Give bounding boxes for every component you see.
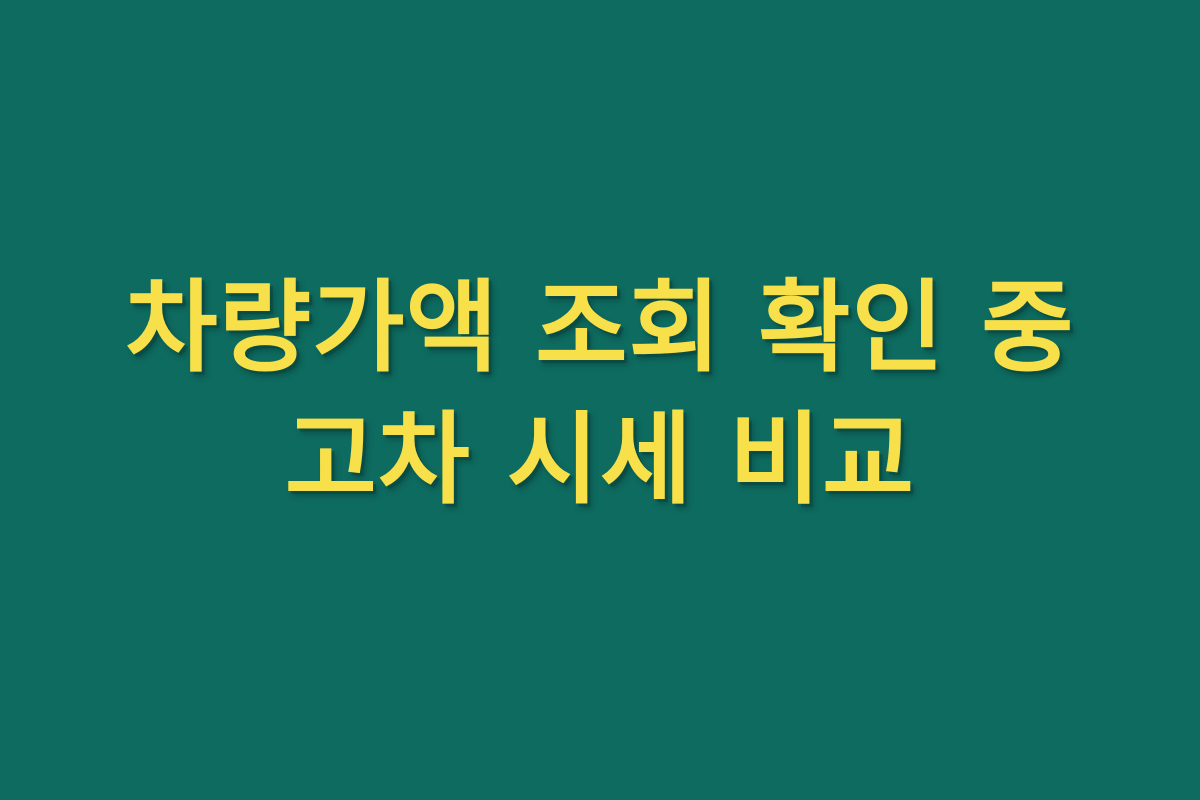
headline-line-1: 차량가액 조회 확인 중 (0, 267, 1200, 389)
headline-line-2: 고차 시세 비교 (0, 399, 1200, 521)
text-banner: 차량가액 조회 확인 중 고차 시세 비교 (0, 0, 1200, 800)
headline-block: 차량가액 조회 확인 중 고차 시세 비교 (0, 267, 1200, 521)
